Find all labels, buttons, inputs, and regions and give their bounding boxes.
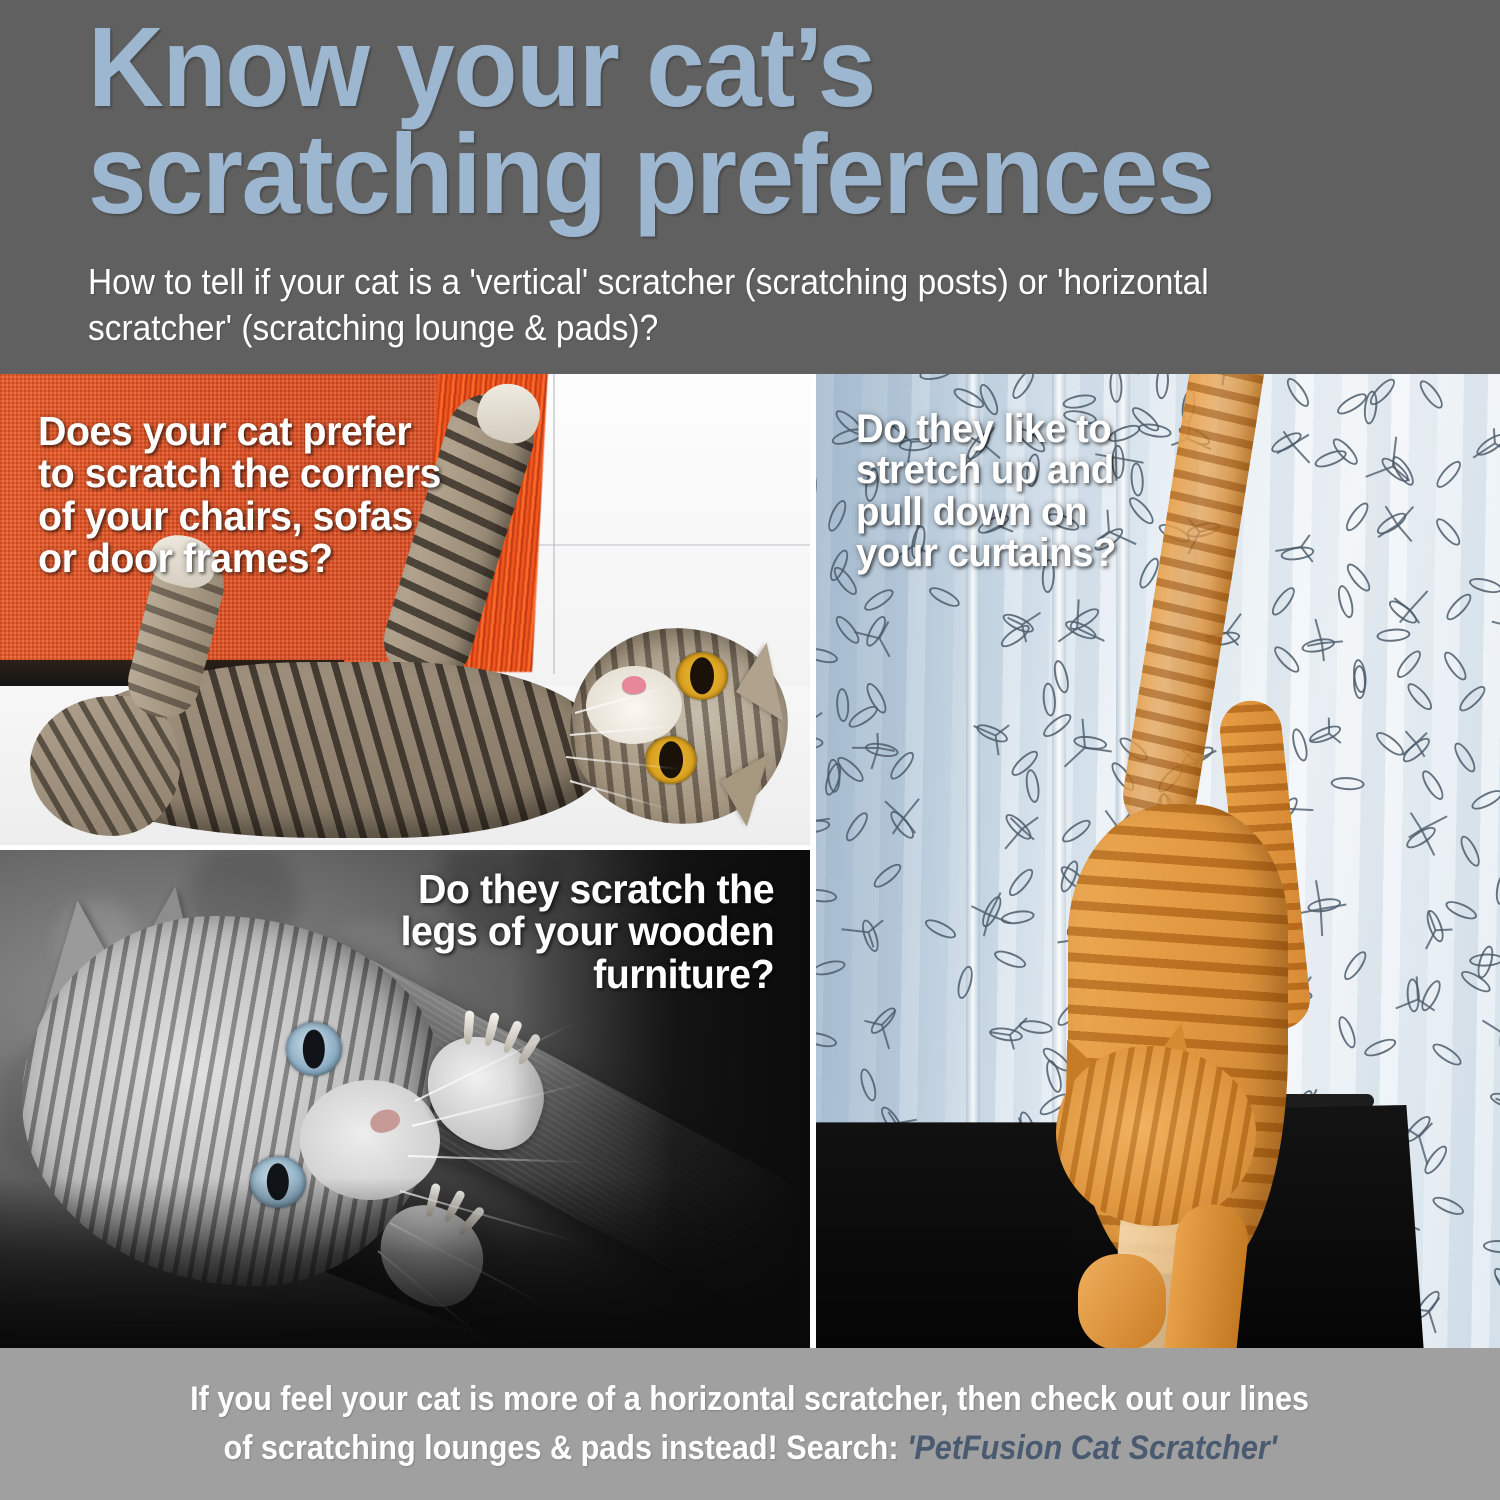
leaf-shape: [1268, 584, 1299, 619]
leaf-stem: [1397, 524, 1413, 542]
leaf-shape: [1443, 590, 1476, 624]
leaf-stem: [1415, 977, 1418, 1000]
leaf-shape: [1483, 1239, 1500, 1254]
leaf-stem: [1064, 747, 1086, 767]
leaf-shape: [1362, 1035, 1398, 1060]
panel-caption-wooden-furniture: Do they scratch the legs of your wooden …: [400, 868, 774, 995]
leaf-shape: [842, 809, 872, 844]
cat-nose: [622, 676, 646, 694]
page-subtitle: How to tell if your cat is a 'vertical' …: [88, 259, 1336, 351]
panel-caption-corners: Does your cat prefer to scratch the corn…: [38, 410, 441, 580]
leaf-stem: [881, 1025, 890, 1050]
leaf-shape: [1469, 787, 1500, 814]
leaf-shape: [816, 888, 838, 905]
leaf-shape: [870, 860, 905, 892]
leaf-shape: [1432, 515, 1464, 549]
header-banner: Know your cat’s scratching preferences H…: [0, 0, 1500, 374]
leaf-stem: [1125, 374, 1141, 375]
leaf-stem: [1319, 909, 1322, 936]
leaf-stem: [879, 638, 891, 657]
leaf-shape: [835, 687, 850, 722]
leaf-stem: [852, 746, 878, 748]
cat-claw: [463, 1010, 474, 1045]
leaf-stem: [1491, 620, 1500, 629]
leaf-stem: [876, 733, 879, 748]
footer-line-1: If you feel your cat is more of a horizo…: [191, 1375, 1310, 1424]
leaf-shape: [927, 583, 963, 610]
cat-back-leg: [1078, 1254, 1166, 1348]
leaf-shape: [1270, 642, 1303, 676]
leaf-shape: [1457, 833, 1484, 869]
leaf-stem: [903, 798, 920, 819]
leaf-shape: [857, 1067, 879, 1103]
leaf-stem: [1427, 1311, 1436, 1334]
leaf-shape: [1331, 777, 1366, 792]
footer-banner: If you feel your cat is more of a horizo…: [0, 1348, 1500, 1500]
leaf-shape: [1443, 898, 1479, 924]
leaf-shape: [816, 645, 840, 666]
leaf-shape: [1468, 575, 1500, 596]
leaf-shape: [816, 957, 847, 978]
leaf-shape: [1059, 816, 1094, 847]
leaf-shape: [1376, 627, 1411, 643]
leaf-shape: [1335, 584, 1356, 620]
panel-wooden-furniture: Do they scratch the legs of your wooden …: [0, 850, 810, 1348]
leaf-shape: [1393, 647, 1425, 681]
leaf-shape: [824, 498, 849, 534]
leaf-shape: [1008, 747, 1042, 780]
leaf-shape: [1450, 740, 1479, 776]
leaf-shape: [816, 1030, 838, 1051]
leaf-shape: [1018, 1018, 1053, 1035]
leaf-shape: [1290, 727, 1311, 763]
panel-grid: Does your cat prefer to scratch the corn…: [0, 374, 1500, 1348]
leaf-shape: [1005, 865, 1037, 899]
panel-corners-sofa: Does your cat prefer to scratch the corn…: [0, 374, 810, 845]
leaf-shape: [1341, 948, 1371, 983]
leaf-shape: [861, 585, 897, 614]
leaf-shape: [816, 736, 823, 749]
leaf-shape: [1433, 457, 1465, 491]
panel-curtains: Do they like to stretch up and pull down…: [816, 374, 1500, 1348]
leaf-shape: [1039, 710, 1074, 741]
leaf-stem: [1226, 613, 1242, 634]
leaf-shape: [1342, 500, 1372, 535]
leaf-shape: [955, 964, 976, 1000]
leaf-shape: [1137, 421, 1173, 440]
leaf-stem: [816, 712, 823, 729]
leaf-shape: [1353, 665, 1367, 699]
infographic-poster: Know your cat’s scratching preferences H…: [0, 0, 1500, 1500]
leaf-stem: [1291, 444, 1309, 464]
leaf-shape: [923, 916, 959, 943]
tabby-cat-illustration: [30, 584, 810, 845]
leaf-shape: [1305, 374, 1337, 375]
leaf-shape: [1155, 374, 1170, 400]
leaf-shape: [887, 807, 919, 842]
leaf-shape: [1493, 871, 1500, 907]
leaf-shape: [1041, 682, 1057, 717]
leaf-stem: [1328, 718, 1330, 734]
cat-eye-upper: [676, 652, 728, 700]
leaf-shape: [832, 612, 863, 647]
leaf-shape: [816, 470, 817, 505]
cat-head: [1056, 1046, 1256, 1226]
cat-eye-upper: [286, 1022, 342, 1076]
leaf-stem: [1436, 929, 1453, 932]
cat-eye-lower: [645, 736, 697, 784]
leaf-shape: [1335, 1014, 1359, 1050]
leaf-shape: [1126, 494, 1158, 528]
leaf-shape: [1313, 447, 1349, 471]
leaf-shape: [1000, 908, 1036, 926]
vignette-bottom: [0, 1178, 810, 1348]
leaf-shape: [1373, 728, 1408, 759]
footer-line-2-prefix: of scratching lounges & pads instead! Se…: [223, 1429, 907, 1467]
leaf-shape: [1430, 1193, 1466, 1219]
leaf-shape: [1300, 636, 1336, 655]
panel-caption-curtains: Do they like to stretch up and pull down…: [856, 409, 1116, 575]
leaf-shape: [862, 613, 889, 649]
leaf-shape: [1129, 462, 1144, 497]
leaf-shape: [1109, 374, 1123, 403]
leaf-shape: [1282, 374, 1312, 409]
leaf-shape: [1403, 680, 1435, 714]
leaf-shape: [919, 374, 955, 382]
footer-brand-search-term: 'PetFusion Cat Scratcher': [907, 1429, 1277, 1467]
leaf-shape: [992, 947, 1028, 971]
page-title: Know your cat’s scratching preferences: [88, 14, 1336, 229]
leaf-shape: [1023, 768, 1041, 804]
leaf-shape: [1416, 377, 1447, 412]
leaf-stem: [1410, 590, 1429, 611]
leaf-shape: [846, 702, 882, 732]
leaf-stem: [1482, 1019, 1500, 1036]
leaf-shape: [1441, 648, 1471, 683]
leaf-shape: [1429, 1040, 1464, 1070]
leaf-shape: [1008, 374, 1038, 403]
leaf-shape: [1456, 683, 1490, 716]
leaf-shape: [1418, 768, 1447, 804]
